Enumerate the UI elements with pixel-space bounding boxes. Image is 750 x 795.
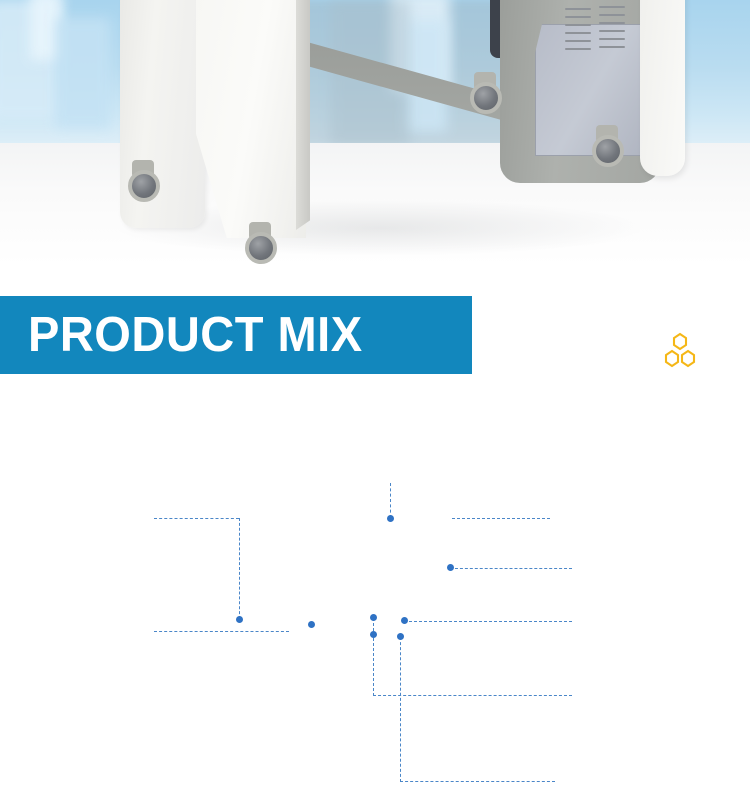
- connector-alcohol-riser: [373, 618, 374, 696]
- molecule-hexagon-icon: [662, 332, 698, 370]
- cart-right-shell: [640, 0, 685, 176]
- connector-alcohol: [373, 695, 572, 696]
- connector-dot-blood-pressure: [236, 616, 243, 623]
- connector-touch-display: [450, 568, 572, 569]
- connector-dot-ic-card: [401, 617, 408, 624]
- connector-dot-alcohol: [370, 614, 377, 621]
- page-root: PRODUCT MIX: [0, 0, 750, 795]
- skyline-building: [55, 18, 110, 128]
- connector-face-recognition: [390, 483, 391, 518]
- connector-dot-oximetry: [308, 621, 315, 628]
- connector-blood-pressure: [154, 518, 239, 519]
- connector-thermal-printer: [400, 781, 555, 782]
- connector-ic-card: [404, 621, 572, 622]
- cart-ventilation-slots: [565, 6, 627, 64]
- connector-oximetry: [154, 631, 289, 632]
- page-title: PRODUCT MIX: [28, 296, 363, 374]
- cart-left-edge: [296, 0, 310, 230]
- connector-dot-ic-card-secondary: [370, 631, 377, 638]
- section-banner: PRODUCT MIX: [0, 296, 472, 374]
- connector-thermal-printer-riser: [400, 637, 401, 782]
- connector-blood-pressure-drop: [239, 518, 240, 619]
- connector-dot-face-recognition: [387, 515, 394, 522]
- connector-dot-thermal-printer: [397, 633, 404, 640]
- product-callout-diagram: 智能健康检测一体机 开始检测 BloodPressure Measuring S…: [0, 400, 750, 795]
- product-photo-cart-base: [0, 0, 750, 265]
- connector-dot-touch-display: [447, 564, 454, 571]
- connector-temperature: [452, 518, 550, 519]
